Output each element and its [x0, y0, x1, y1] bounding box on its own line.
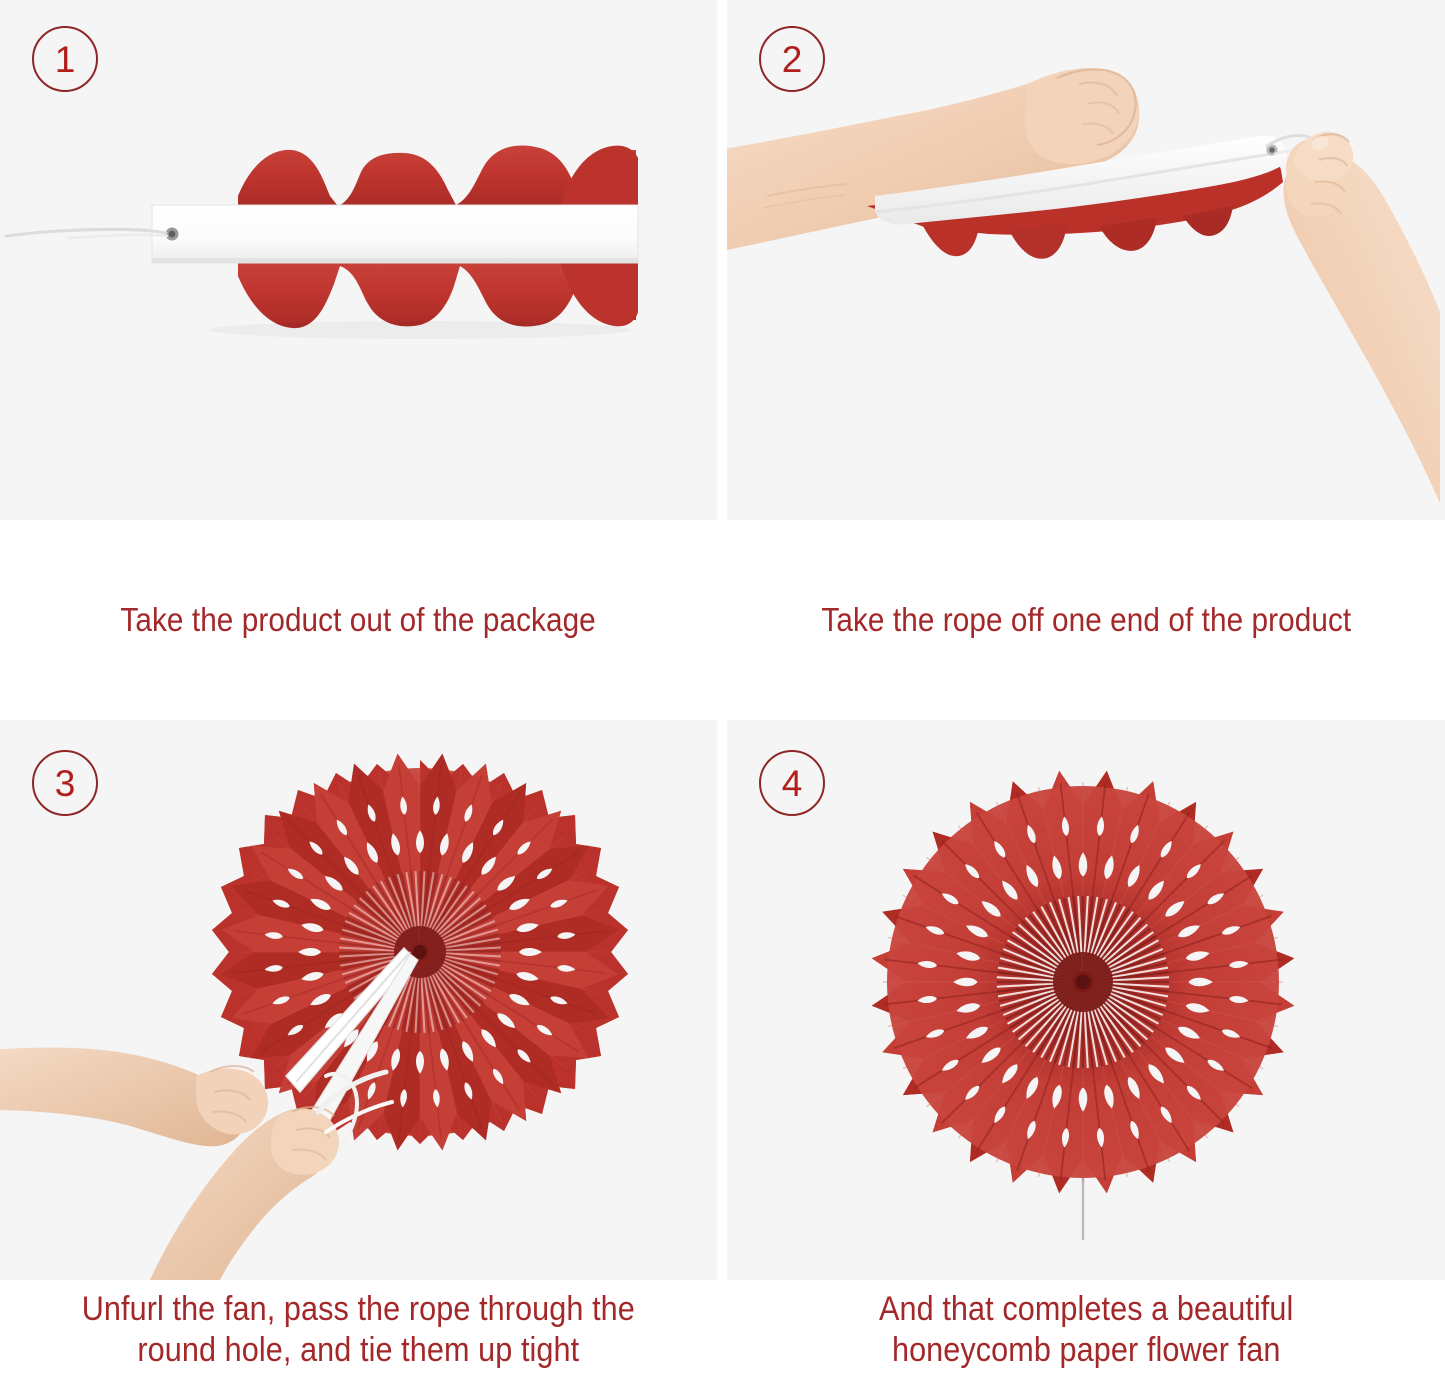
step-1-caption: Take the product out of the package — [121, 600, 596, 640]
step-3-caption-line-2: round hole, and tie them up tight — [82, 1330, 635, 1371]
hands-tying-open-fan-illustration — [0, 720, 717, 1280]
step-3-caption-area: Unfurl the fan, pass the rope through th… — [0, 1280, 717, 1380]
step-4-caption-area: And that completes a beautiful honeycomb… — [727, 1280, 1445, 1380]
step-card-4: 4 — [727, 720, 1445, 1380]
step-2-image-panel: 2 — [727, 0, 1445, 520]
column-gutter — [717, 0, 727, 720]
step-4-caption-line-2: honeycomb paper flower fan — [879, 1330, 1293, 1371]
step-1-image-panel: 1 — [0, 0, 717, 520]
step-2-caption: Take the rope off one end of the product — [821, 600, 1351, 640]
step-1-caption-area: Take the product out of the package — [0, 520, 717, 720]
steps-row-top: 1 — [0, 0, 1445, 720]
column-gutter-bottom — [717, 720, 727, 1380]
step-card-2: 2 — [727, 0, 1445, 720]
finished-honeycomb-fan-illustration — [727, 720, 1445, 1280]
folded-fan-pack-illustration — [0, 0, 717, 520]
instruction-sheet: 1 — [0, 0, 1445, 1380]
step-4-image-panel: 4 — [727, 720, 1445, 1280]
step-4-caption-line-1: And that completes a beautiful — [879, 1289, 1293, 1330]
step-2-caption-area: Take the rope off one end of the product — [727, 520, 1445, 720]
hands-untying-rope-illustration — [727, 0, 1445, 520]
steps-row-bottom: 3 — [0, 720, 1445, 1380]
step-3-image-panel: 3 — [0, 720, 717, 1280]
step-card-1: 1 — [0, 0, 717, 720]
step-3-caption-line-1: Unfurl the fan, pass the rope through th… — [82, 1289, 635, 1330]
step-card-3: 3 — [0, 720, 717, 1380]
